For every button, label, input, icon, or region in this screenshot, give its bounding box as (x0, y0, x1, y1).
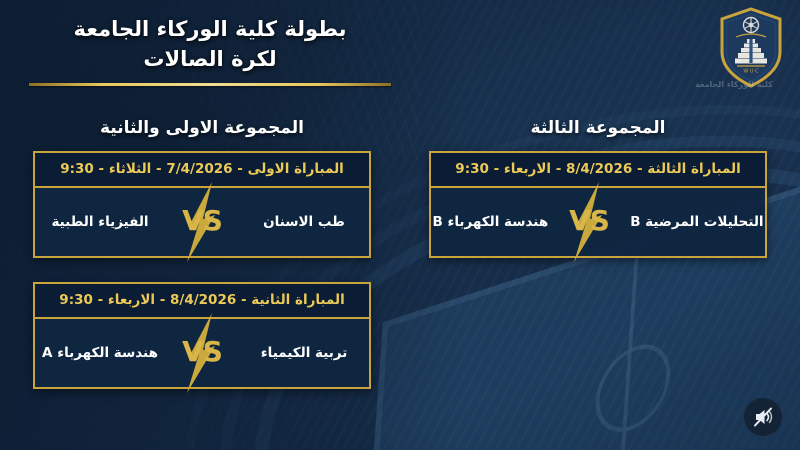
college-logo: W U C كلية الوركاء الجامعة (718, 6, 784, 92)
svg-text:W U C: W U C (743, 69, 759, 75)
match-card-2[interactable]: المباراة الثانية - 8/4/2026 - الاربعاء -… (33, 282, 371, 389)
vs-badge-2: VS (165, 319, 239, 387)
mute-button[interactable] (744, 398, 782, 436)
svg-text:VS: VS (182, 204, 222, 237)
svg-text:VS: VS (182, 335, 222, 368)
speaker-muted-icon (752, 406, 774, 428)
match-body-3: التحليلات المرضية B VS هندسة الكهرباء B (431, 188, 765, 256)
team-right-2: هندسة الكهرباء A (35, 345, 165, 361)
vs-lightning-icon: VS (552, 182, 626, 262)
title-divider (29, 83, 391, 86)
team-right-3: هندسة الكهرباء B (428, 214, 552, 230)
column-group-one-two: المجموعة الاولى والثانية المباراة الاولى… (16, 118, 388, 413)
logo-caption: كلية الوركاء الجامعة (690, 80, 778, 89)
match-card-1[interactable]: المباراة الاولى - 7/4/2026 - الثلاثاء - … (33, 151, 371, 258)
poster-header: بطولة كلية الوركاء الجامعة لكرة الصالات (0, 0, 420, 86)
group-title-left: المجموعة الاولى والثانية (16, 118, 388, 138)
match-body-2: تربية الكيمياء VS هندسة الكهرباء A (35, 319, 369, 387)
team-left-1: طب الاسنان (239, 214, 369, 230)
page-title-line-1: بطولة كلية الوركاء الجامعة (0, 14, 420, 44)
group-title-right: المجموعة الثالثة (412, 118, 784, 138)
tournament-poster: بطولة كلية الوركاء الجامعة لكرة الصالات … (0, 0, 800, 450)
vs-lightning-icon: VS (165, 182, 239, 262)
team-right-1: الفيزياء الطبية (35, 214, 165, 230)
column-group-three: المجموعة الثالثة المباراة الثالثة - 8/4/… (412, 118, 784, 282)
team-left-2: تربية الكيمياء (239, 345, 369, 361)
team-left-3: التحليلات المرضية B (626, 214, 767, 230)
vs-badge-3: VS (552, 188, 626, 256)
vs-badge-1: VS (165, 188, 239, 256)
vs-lightning-icon: VS (165, 313, 239, 393)
match-body-1: طب الاسنان VS الفيزياء الطبية (35, 188, 369, 256)
match-card-3[interactable]: المباراة الثالثة - 8/4/2026 - الاربعاء -… (429, 151, 767, 258)
svg-text:VS: VS (569, 204, 609, 237)
page-title-line-2: لكرة الصالات (0, 44, 420, 74)
